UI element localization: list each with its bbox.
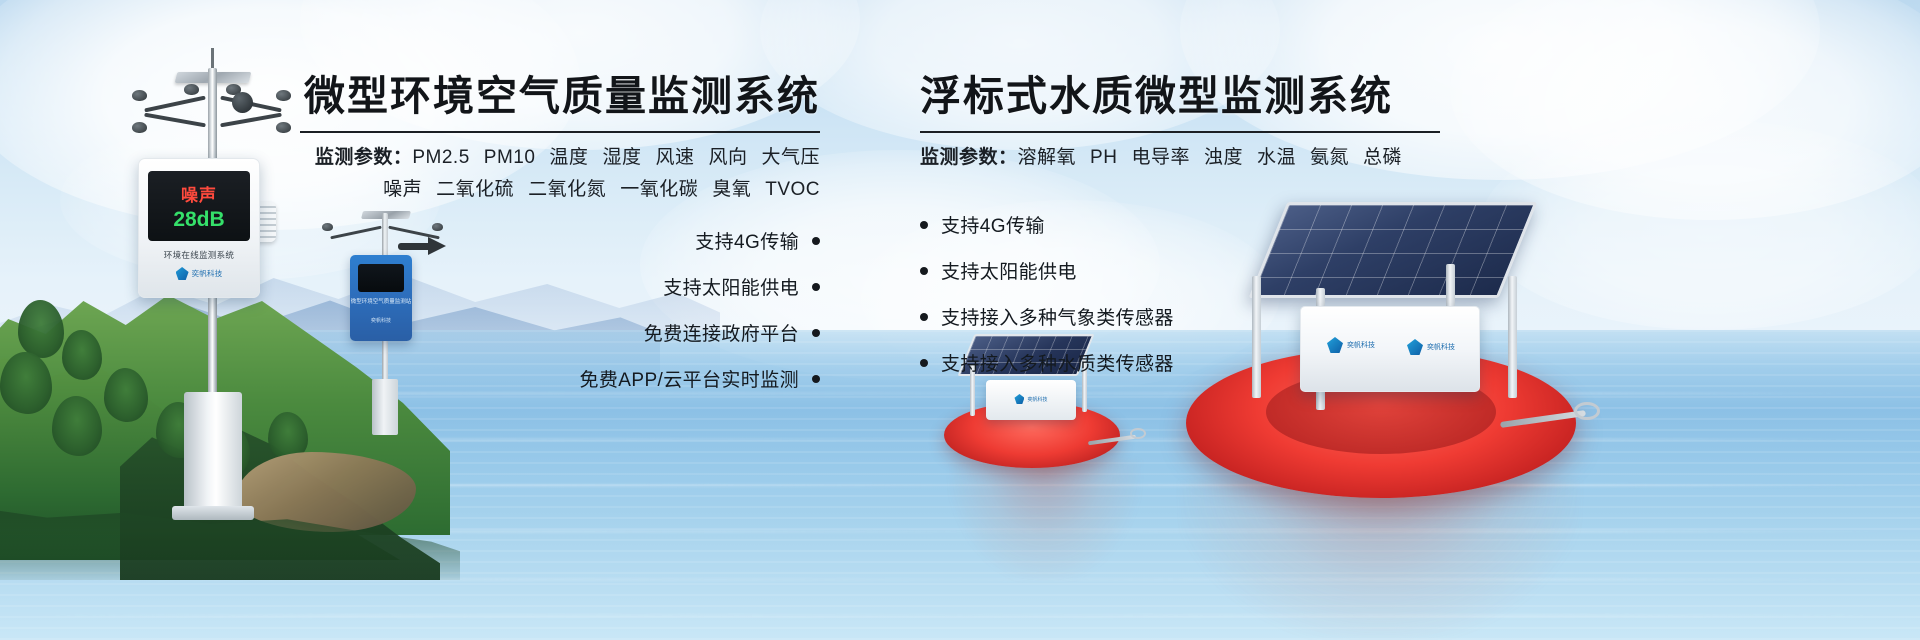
anemometer-cup-icon — [132, 90, 147, 101]
anemometer-cup-icon — [276, 122, 291, 133]
bullet-dot-icon — [920, 359, 928, 367]
list-item: 支持太阳能供电 — [300, 273, 820, 300]
cabinet-brand-logo: 奕帆科技 — [139, 267, 259, 280]
param-token: 浊度 — [1204, 147, 1243, 168]
list-item: 免费APP/云平台实时监测 — [300, 365, 820, 392]
buoy-sensor-ring-icon — [1130, 428, 1146, 439]
param-token: 一氧化碳 — [620, 179, 698, 200]
left-feature-list: 支持4G传输 支持太阳能供电 免费连接政府平台 免费APP/云平台实时监测 — [300, 227, 820, 392]
param-token: 总磷 — [1363, 147, 1402, 168]
anemometer-arm — [144, 113, 206, 128]
param-token: 二氧化氮 — [528, 179, 606, 200]
params-label: 监测参数： — [920, 147, 1018, 168]
feature-text: 免费APP/云平台实时监测 — [580, 365, 800, 392]
list-item: 支持太阳能供电 — [920, 257, 1440, 284]
anemometer-arm — [220, 113, 282, 128]
bullet-dot-icon — [812, 237, 820, 245]
left-product-title: 微型环境空气质量监测系统 — [300, 62, 820, 122]
feature-text: 支持太阳能供电 — [663, 273, 799, 300]
param-token: PM2.5 — [412, 147, 469, 168]
param-token: 大气压 — [761, 147, 820, 168]
params-values: PM2.5PM10温度湿度风速风向大气压 — [412, 147, 820, 168]
anemometer-cup-icon — [132, 122, 147, 133]
left-product-text-block: 微型环境空气质量监测系统 监测参数：PM2.5PM10温度湿度风速风向大气压 噪… — [300, 62, 820, 411]
feature-text: 支持4G传输 — [695, 227, 799, 254]
right-product-text-block: 浮标式水质微型监测系统 监测参数：溶解氧PH电导率浊度水温氨氮总磷 支持4G传输… — [920, 62, 1440, 395]
feature-text: 支持4G传输 — [941, 211, 1045, 238]
param-token: 温度 — [549, 147, 588, 168]
param-token: 噪声 — [383, 179, 422, 200]
param-token: 臭氧 — [712, 179, 751, 200]
left-params-line-1: 监测参数：PM2.5PM10温度湿度风速风向大气压 — [300, 142, 820, 169]
list-item: 支持4G传输 — [300, 227, 820, 254]
bullet-dot-icon — [920, 267, 928, 275]
anemometer-arm — [144, 96, 205, 113]
param-token: 氨氮 — [1310, 147, 1349, 168]
title-divider — [920, 131, 1440, 133]
right-feature-list: 支持4G传输 支持太阳能供电 支持接入多种气象类传感器 支持接入多种水质类传感器 — [920, 211, 1440, 376]
bullet-dot-icon — [920, 221, 928, 229]
display-metric-label: 噪声 — [181, 181, 217, 206]
bullet-dot-icon — [812, 375, 820, 383]
list-item: 支持4G传输 — [920, 211, 1440, 238]
cabinet-caption: 环境在线监测系统 — [139, 249, 259, 261]
brand-name: 奕帆科技 — [192, 268, 223, 279]
list-item: 支持接入多种水质类传感器 — [920, 349, 1440, 376]
params-label: 监测参数： — [315, 147, 413, 168]
brand-mark-icon — [176, 267, 189, 280]
feature-text: 支持太阳能供电 — [941, 257, 1077, 284]
param-token: 溶解氧 — [1018, 147, 1077, 168]
brand-mark-icon — [1014, 394, 1024, 404]
param-token: 电导率 — [1131, 147, 1190, 168]
bullet-dot-icon — [812, 329, 820, 337]
param-token: 风向 — [708, 147, 747, 168]
param-token: PM10 — [484, 147, 536, 168]
params-values: 噪声二氧化硫二氧化氮一氧化碳臭氧TVOC — [383, 179, 820, 200]
right-params-line-1: 监测参数：溶解氧PH电导率浊度水温氨氮总磷 — [920, 142, 1440, 169]
param-token: 湿度 — [602, 147, 641, 168]
left-params-line-2: 噪声二氧化硫二氧化氮一氧化碳臭氧TVOC — [300, 174, 820, 201]
list-item: 免费连接政府平台 — [300, 319, 820, 346]
param-token: 二氧化硫 — [436, 179, 514, 200]
station-base-foot — [172, 506, 254, 520]
right-product-title: 浮标式水质微型监测系统 — [920, 62, 1440, 122]
buoy-brand-logo: 奕帆科技 — [986, 394, 1076, 404]
title-divider — [300, 131, 820, 133]
param-token: TVOC — [765, 179, 820, 200]
list-item: 支持接入多种气象类传感器 — [920, 303, 1440, 330]
bullet-dot-icon — [812, 283, 820, 291]
brand-name: 奕帆科技 — [1027, 396, 1047, 403]
station-base-column — [184, 392, 242, 512]
display-metric-value: 28dB — [173, 208, 224, 232]
anemometer-cup-icon — [276, 90, 291, 101]
feature-text: 支持接入多种气象类传感器 — [941, 303, 1174, 330]
sensor-sphere-icon — [232, 92, 253, 113]
station-display-screen: 噪声 28dB — [148, 171, 250, 241]
feature-text: 免费连接政府平台 — [644, 319, 799, 346]
promotional-banner: 噪声 28dB 环境在线监测系统 奕帆科技 微型环境空气质量监测站 奕帆科技 — [0, 0, 1920, 640]
param-token: 风速 — [655, 147, 694, 168]
feature-text: 支持接入多种水质类传感器 — [941, 349, 1174, 376]
station-cabinet: 噪声 28dB 环境在线监测系统 奕帆科技 — [138, 158, 260, 298]
params-values: 溶解氧PH电导率浊度水温氨氮总磷 — [1018, 147, 1403, 168]
param-token: 水温 — [1257, 147, 1296, 168]
frame-post — [1508, 276, 1517, 398]
bullet-dot-icon — [920, 313, 928, 321]
param-token: PH — [1090, 147, 1117, 168]
anemometer-cup-icon — [184, 84, 199, 95]
water-ripple — [0, 614, 1920, 617]
buoy-sensor-ring-icon — [1574, 402, 1600, 420]
